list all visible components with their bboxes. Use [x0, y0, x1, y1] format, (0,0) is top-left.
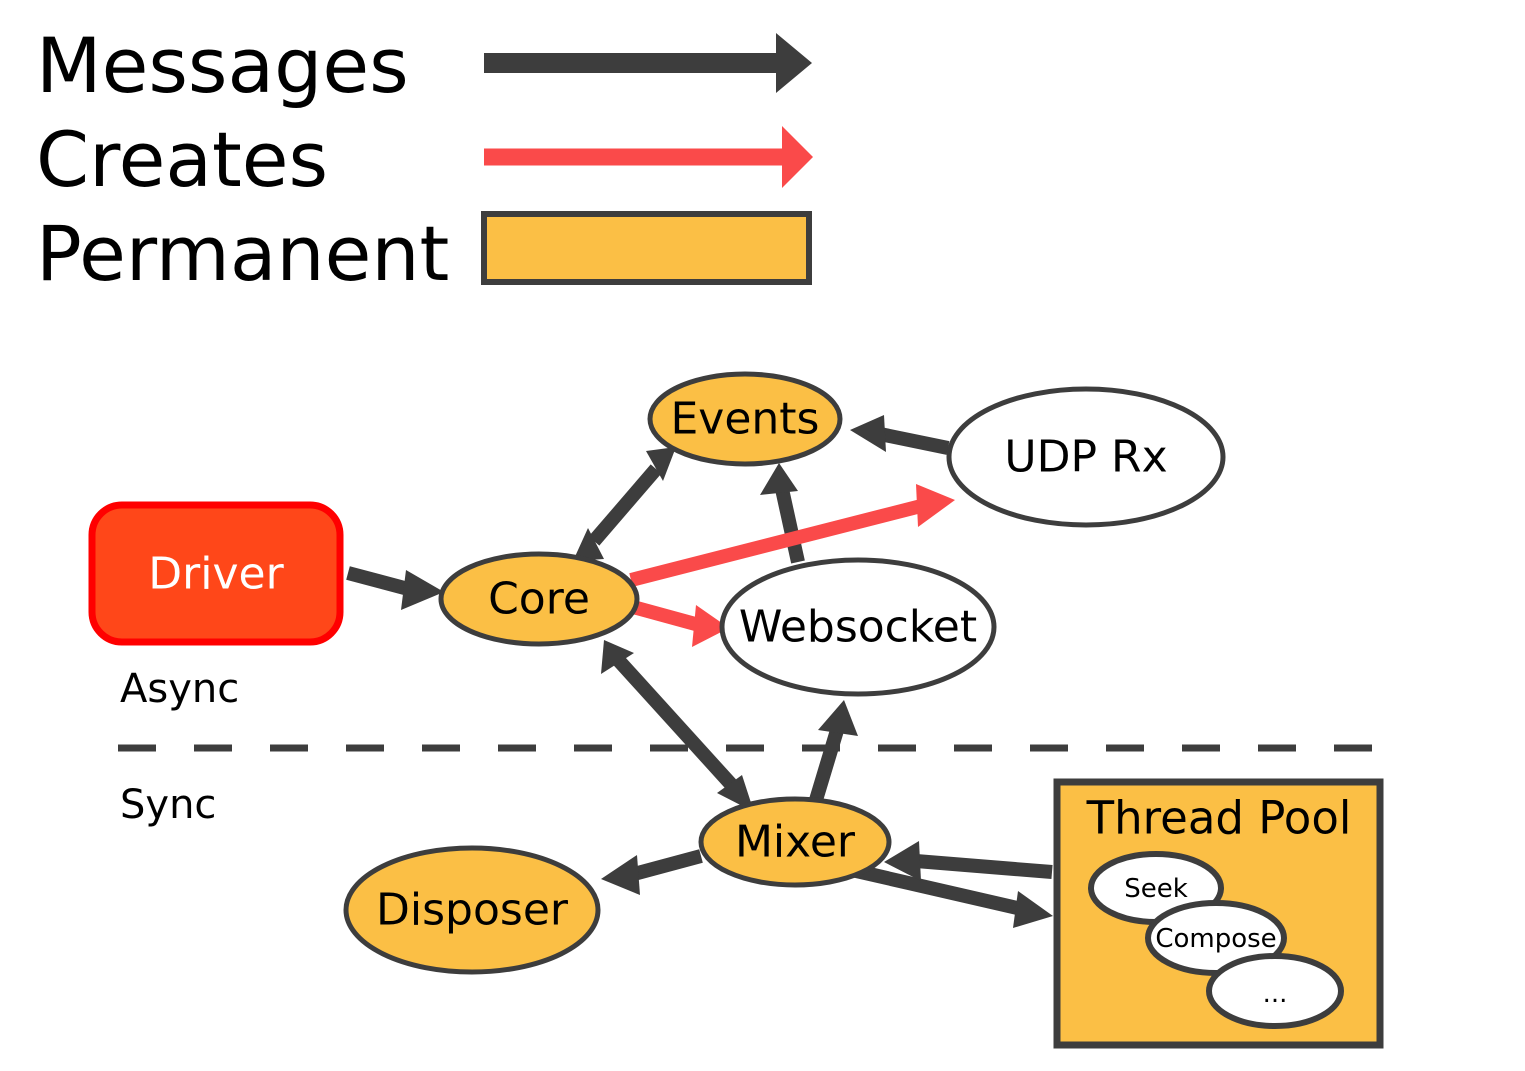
pool-task-compose-label: Compose [1155, 924, 1276, 954]
edge-mixer-to-disposer [601, 855, 701, 895]
edge-mixer-to-threadpool [852, 870, 1053, 928]
edge-threadpool-to-mixer [884, 841, 1052, 881]
node-thread-pool[interactable]: Thread Pool Seek Compose ... [1057, 782, 1380, 1045]
legend-label-creates: Creates [36, 115, 328, 204]
pool-task-more-label: ... [1263, 979, 1288, 1009]
zone-label-async: Async [120, 666, 239, 712]
node-driver-label: Driver [148, 549, 284, 600]
architecture-diagram: Messages Creates Permanent [0, 0, 1525, 1071]
legend-label-permanent: Permanent [36, 209, 449, 298]
node-disposer-label: Disposer [376, 885, 569, 936]
node-mixer[interactable]: Mixer [701, 799, 889, 885]
node-driver[interactable]: Driver [92, 505, 340, 642]
edge-udprx-to-events [850, 415, 948, 452]
legend-arrow-messages-icon [484, 33, 812, 93]
node-events-label: Events [671, 394, 820, 445]
node-thread-pool-label: Thread Pool [1086, 792, 1352, 845]
diagram-canvas: Messages Creates Permanent [0, 0, 1525, 1071]
node-events[interactable]: Events [650, 374, 840, 464]
legend-swatch-permanent-icon [484, 214, 809, 282]
node-mixer-label: Mixer [735, 817, 856, 868]
node-core[interactable]: Core [441, 554, 637, 644]
legend: Messages Creates Permanent [36, 21, 813, 298]
edge-core-to-websocket-creates [633, 605, 729, 647]
edge-core-to-mixer [601, 640, 754, 812]
edge-driver-to-core [348, 570, 444, 610]
legend-label-messages: Messages [36, 21, 409, 110]
pool-task-seek-label: Seek [1124, 874, 1188, 904]
edge-core-to-events [573, 447, 676, 561]
legend-arrow-creates-icon [484, 126, 813, 188]
node-core-label: Core [488, 574, 590, 625]
pool-task-more[interactable]: ... [1209, 956, 1341, 1026]
node-websocket-label: Websocket [739, 602, 977, 653]
node-websocket[interactable]: Websocket [722, 560, 994, 694]
node-udp-rx-label: UDP Rx [1004, 432, 1167, 483]
node-disposer[interactable]: Disposer [346, 848, 598, 972]
node-udp-rx[interactable]: UDP Rx [949, 389, 1223, 525]
zone-label-sync: Sync [120, 782, 216, 828]
